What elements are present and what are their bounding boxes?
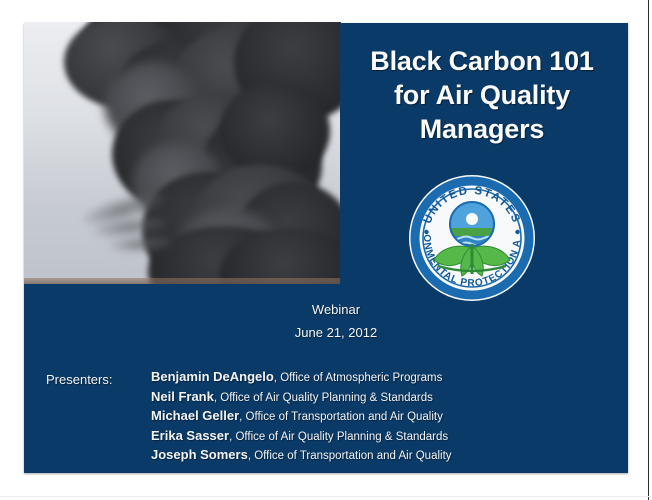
photo-ground-strip [24,278,340,284]
presenter-row: Joseph Somers, Office of Transportation … [151,446,601,466]
presenter-name: Benjamin DeAngelo [151,369,274,384]
page-bottom-border [0,496,652,497]
title-line-2: for Air Quality [346,78,618,112]
presenter-name: Joseph Somers [151,447,248,462]
epa-seal: UNITED STATES ENVIRONMENTAL PROTECTION A… [408,174,536,302]
presenter-affiliation: Office of Atmospheric Programs [280,372,442,384]
presenter-affiliation: Office of Transportation and Air Quality [254,450,451,462]
presenter-affiliation: Office of Air Quality Planning & Standar… [235,431,448,443]
presenters-list: Benjamin DeAngelo, Office of Atmospheric… [151,368,601,466]
presenter-row: Neil Frank, Office of Air Quality Planni… [151,388,601,408]
page-right-border [648,0,649,500]
slide-page: Black Carbon 101 for Air Quality Manager… [0,0,652,500]
presenter-row: Benjamin DeAngelo, Office of Atmospheric… [151,368,601,388]
presenter-row: Michael Geller, Office of Transportation… [151,407,601,427]
slide-title: Black Carbon 101 for Air Quality Manager… [346,44,618,146]
presenter-row: Erika Sasser, Office of Air Quality Plan… [151,427,601,447]
smoke-plume-photo [24,22,341,285]
presenter-affiliation: Office of Transportation and Air Quality [246,411,443,423]
presenter-affiliation: Office of Air Quality Planning & Standar… [220,392,433,404]
event-info: Webinar June 21, 2012 [206,298,466,344]
event-date: June 21, 2012 [206,321,466,344]
title-line-1: Black Carbon 101 [346,44,618,78]
event-type: Webinar [206,298,466,321]
presenter-name: Michael Geller [151,408,239,423]
title-line-3: Managers [346,112,618,146]
presenter-name: Neil Frank [151,389,214,404]
presenter-name: Erika Sasser [151,428,229,443]
presenters-label: Presenters: [46,372,112,387]
